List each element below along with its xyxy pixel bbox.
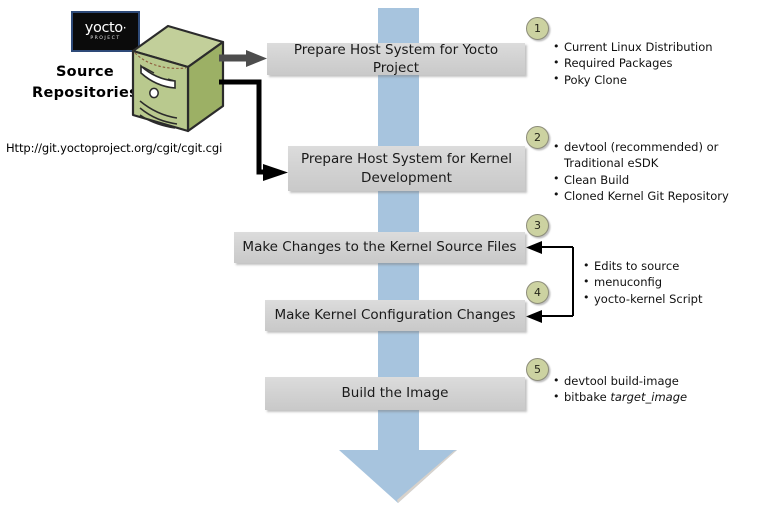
source-repositories-label: Source Repositories <box>24 62 146 104</box>
process-box-prepare-host-kernel[interactable]: Prepare Host System for Kernel Developme… <box>288 146 525 191</box>
logo-dot: · <box>123 21 126 35</box>
process-box-make-source-changes[interactable]: Make Changes to the Kernel Source Files <box>234 232 525 263</box>
note-item: Required Packages <box>553 55 713 71</box>
notes-group-1: Current Linux Distribution Required Pack… <box>553 39 713 88</box>
notes-group-3-4: Edits to source menuconfig yocto-kernel … <box>583 258 703 307</box>
note-item: yocto-kernel Script <box>583 291 703 307</box>
process-box-prepare-host-yocto[interactable]: Prepare Host System for Yocto Project <box>267 43 525 75</box>
diagram-canvas: yocto· PROJECT Source Repositories Http:… <box>0 0 769 517</box>
notes-group-2: devtool (recommended) or Traditional eSD… <box>553 139 729 204</box>
note-item: devtool build-image <box>553 373 687 389</box>
step-badge-5: 5 <box>526 358 549 381</box>
source-label-line-1: Source <box>24 62 146 83</box>
note-argument: target_image <box>610 390 687 404</box>
server-tower-icon <box>130 23 226 139</box>
flow-arrowhead-icon <box>339 448 457 504</box>
process-box-build-image[interactable]: Build the Image <box>265 377 525 410</box>
source-repository-url: Http://git.yoctoproject.org/cgit/cgit.cg… <box>6 141 222 155</box>
note-item: Edits to source <box>583 258 703 274</box>
note-item: Cloned Kernel Git Repository <box>553 188 729 204</box>
step-badge-4: 4 <box>526 281 549 304</box>
note-item: menuconfig <box>583 274 703 290</box>
note-item: Current Linux Distribution <box>553 39 713 55</box>
logo-wordmark: yocto· <box>85 21 126 36</box>
logo-word-text: yocto <box>85 20 123 36</box>
notes-group-5: devtool build-image bitbake target_image <box>553 373 687 406</box>
step-badge-3: 3 <box>526 214 549 237</box>
note-command: bitbake <box>564 390 610 404</box>
step-badge-2: 2 <box>526 126 549 149</box>
note-item: devtool (recommended) or Traditional eSD… <box>553 139 724 172</box>
source-label-line-2: Repositories <box>24 83 146 104</box>
process-box-make-config-changes[interactable]: Make Kernel Configuration Changes <box>265 300 525 331</box>
note-item: bitbake target_image <box>553 389 687 405</box>
logo-subtitle: PROJECT <box>90 37 120 42</box>
note-item: Poky Clone <box>553 72 713 88</box>
step-badge-1: 1 <box>526 17 549 40</box>
note-item: Clean Build <box>553 172 729 188</box>
